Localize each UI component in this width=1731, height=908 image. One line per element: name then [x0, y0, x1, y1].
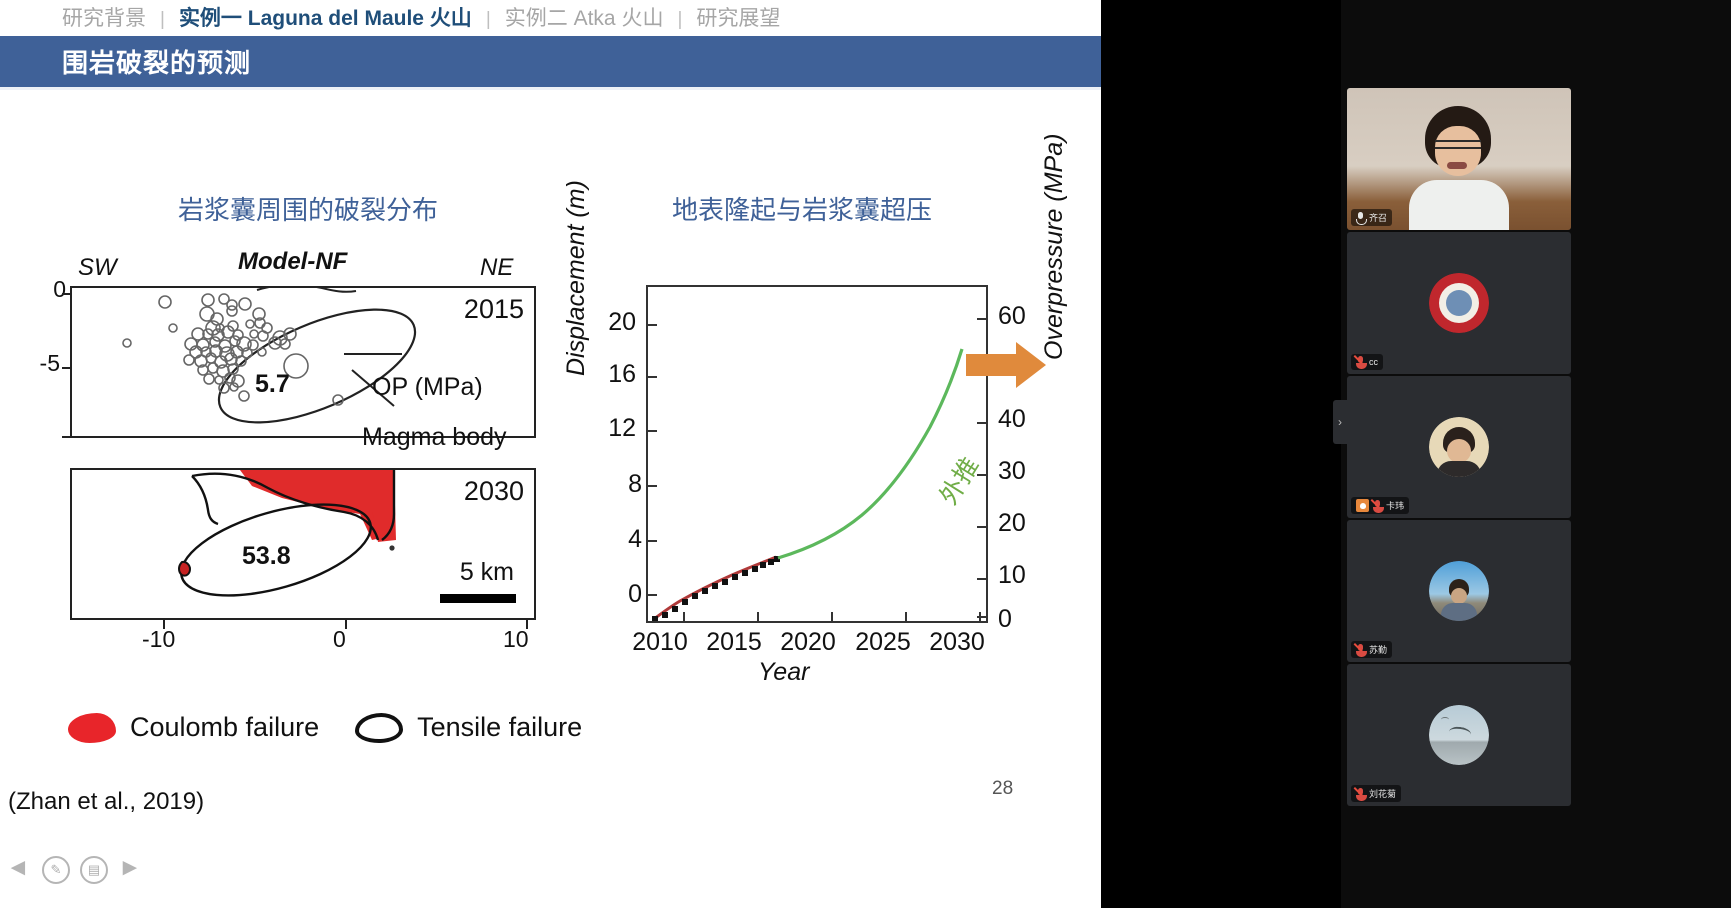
prev-slide-button[interactable]: ◄ [6, 857, 32, 883]
nav-item-1[interactable]: 实例一 Laguna del Maule 火山 [179, 2, 472, 32]
cross-section-figure: SW Model-NF NE 0 -5 [48, 238, 548, 658]
slide-menu-button[interactable]: ▤ [80, 856, 108, 884]
nav-item-3[interactable]: 研究展望 [696, 2, 780, 32]
rail-collapse-chevron-icon[interactable]: › [1333, 400, 1347, 444]
host-icon [1356, 499, 1369, 512]
nav-separator: | [160, 9, 165, 31]
panel-2030: 2030 53.8 5 km [70, 468, 536, 620]
avatar [1429, 417, 1489, 477]
participant-name-chip-0: 齐召 [1351, 209, 1392, 226]
y-tick-0: 0 [32, 276, 66, 303]
x-tick-2030: 2030 [917, 628, 997, 657]
right-y-tick-0: 0 [998, 605, 1044, 634]
participant-name-chip-4: 刘花菊 [1351, 785, 1401, 802]
op-annotation: OP (MPa) [372, 373, 483, 402]
right-y-tick-40: 40 [998, 405, 1044, 434]
x-tick-2020: 2020 [768, 628, 848, 657]
tensile-failure-label: Tensile failure [417, 712, 582, 743]
participant-tile-1[interactable]: cc [1347, 232, 1571, 374]
chart-plot-area: 外推 [646, 285, 988, 623]
coulomb-failure-label: Coulomb failure [130, 712, 319, 743]
participant-tile-2[interactable]: 卡玮 [1347, 376, 1571, 518]
mic-muted-icon [1356, 356, 1365, 368]
coulomb-failure-swatch [68, 713, 116, 743]
page-title: 围岩破裂的预测 [62, 43, 251, 80]
nav-item-0[interactable]: 研究背景 [62, 2, 146, 32]
left-y-tick-16: 16 [590, 360, 636, 389]
citation-text: (Zhan et al., 2019) [8, 788, 204, 816]
participant-name-2: 卡玮 [1386, 499, 1404, 512]
mic-muted-icon [1356, 644, 1365, 656]
y-axis-label-right: Overpressure (MPa) [1040, 130, 1069, 360]
scalebar [440, 594, 516, 603]
x-axis-label: Year [758, 658, 809, 687]
chart-series-svg [648, 287, 986, 621]
tensile-failure-swatch [355, 713, 403, 743]
model-title: Model-NF [238, 248, 347, 276]
participant-name-chip-1: cc [1351, 354, 1383, 370]
avatar [1429, 273, 1489, 333]
slide-navbar: 研究背景 | 实例一 Laguna del Maule 火山 | 实例二 Atk… [0, 0, 1101, 34]
left-y-tick-4: 4 [596, 525, 642, 554]
presentation-controls: ◄ ✎ ▤ ► [6, 856, 144, 884]
failure-legend: Coulomb failure Tensile failure [68, 712, 582, 743]
direction-label-sw: SW [78, 254, 117, 282]
y-tick-minus5: -5 [26, 350, 60, 377]
mic-muted-icon [1356, 788, 1365, 800]
nav-separator: | [677, 9, 682, 31]
left-y-tick-8: 8 [596, 470, 642, 499]
slide-title-bar: 围岩破裂的预测 [0, 36, 1101, 87]
left-y-tick-20: 20 [590, 308, 636, 337]
participant-tile-3[interactable]: 苏勤 [1347, 520, 1571, 662]
right-y-tick-10: 10 [998, 561, 1044, 590]
year-label-2015: 2015 [464, 294, 524, 325]
slide-canvas: 研究背景 | 实例一 Laguna del Maule 火山 | 实例二 Atk… [0, 0, 1101, 908]
left-y-tick-12: 12 [590, 414, 636, 443]
next-slide-button[interactable]: ► [118, 857, 144, 883]
panel-2015: 2015 5.7 OP (MPa) Magma body [70, 286, 536, 438]
participant-name-chip-2: 卡玮 [1351, 497, 1409, 514]
mic-muted-icon [1373, 500, 1382, 512]
orange-arrow-annotation [966, 342, 1046, 388]
navbar-items: 研究背景 | 实例一 Laguna del Maule 火山 | 实例二 Atk… [62, 2, 780, 32]
mic-icon [1356, 212, 1365, 224]
x-tick-label-10: 10 [503, 626, 529, 653]
direction-label-ne: NE [480, 254, 513, 282]
left-y-tick-0: 0 [596, 580, 642, 609]
x-tick-2015: 2015 [694, 628, 774, 657]
participant-name-4: 刘花菊 [1369, 787, 1396, 800]
right-y-tick-60: 60 [998, 302, 1044, 331]
right-y-tick-20: 20 [998, 509, 1044, 538]
y-axis-label-left: Displacement (m) [562, 176, 591, 376]
annotate-pen-button[interactable]: ✎ [42, 856, 70, 884]
section-heading-left: 岩浆囊周围的破裂分布 [178, 190, 438, 227]
screen-root: 研究背景 | 实例一 Laguna del Maule 火山 | 实例二 Atk… [0, 0, 1731, 908]
participant-name-3: 苏勤 [1369, 643, 1387, 656]
participant-tile-4[interactable]: 刘花菊 [1347, 664, 1571, 806]
nav-item-2[interactable]: 实例二 Atka 火山 [505, 2, 664, 32]
x-tick-2010: 2010 [620, 628, 700, 657]
x-tick-label-minus10: -10 [142, 626, 175, 653]
slide-page-number: 28 [992, 778, 1013, 800]
year-label-2030: 2030 [464, 476, 524, 507]
participant-tile-0[interactable]: 齐召 [1347, 88, 1571, 230]
op-value-2030: 53.8 [242, 542, 291, 571]
section-heading-right: 地表隆起与岩浆囊超压 [672, 190, 932, 227]
participant-name-1: cc [1369, 357, 1378, 367]
avatar [1429, 561, 1489, 621]
participant-rail: › 齐召 [1341, 0, 1731, 908]
right-y-tick-30: 30 [998, 457, 1044, 486]
uplift-overpressure-chart: Displacement (m) Overpressure (MPa) 20 1… [568, 280, 1078, 690]
avatar [1429, 705, 1489, 765]
participant-name-chip-3: 苏勤 [1351, 641, 1392, 658]
x-tick-label-0: 0 [333, 626, 346, 653]
participant-name-0: 齐召 [1369, 211, 1387, 224]
scalebar-label: 5 km [460, 558, 514, 587]
x-tick-2025: 2025 [843, 628, 923, 657]
op-value-2015: 5.7 [255, 370, 290, 399]
magma-body-annotation: Magma body [362, 423, 507, 452]
nav-separator: | [486, 9, 491, 31]
title-underline [0, 87, 1101, 90]
